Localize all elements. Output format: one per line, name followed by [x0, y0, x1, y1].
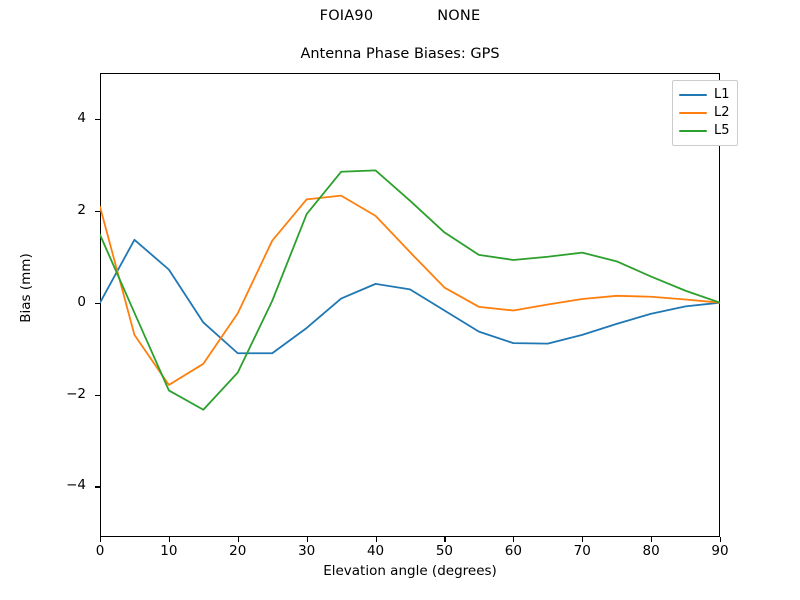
y-tick-mark — [95, 119, 100, 120]
x-tick-label: 20 — [208, 543, 268, 559]
legend-label: L5 — [714, 122, 730, 140]
legend-item-l1[interactable]: L1 — [679, 86, 730, 104]
x-tick-mark — [582, 537, 583, 542]
y-tick-mark — [95, 303, 100, 304]
legend-swatch — [679, 112, 707, 115]
y-tick-mark — [95, 395, 100, 396]
plot-lines — [100, 73, 720, 537]
x-tick-mark — [651, 537, 652, 542]
legend-item-l2[interactable]: L2 — [679, 104, 730, 122]
x-tick-mark — [238, 537, 239, 542]
x-tick-label: 70 — [552, 543, 612, 559]
legend-item-l5[interactable]: L5 — [679, 122, 730, 140]
x-tick-mark — [307, 537, 308, 542]
x-tick-mark — [513, 537, 514, 542]
chart-title: Antenna Phase Biases: GPS — [0, 46, 800, 62]
y-tick-mark — [95, 486, 100, 487]
suptitle-station: FOIA90 — [320, 8, 374, 24]
x-tick-mark — [376, 537, 377, 542]
suptitle-dome: NONE — [437, 8, 480, 24]
figure-canvas: FOIA90NONE Antenna Phase Biases: GPS 420… — [0, 0, 800, 600]
x-tick-mark — [100, 537, 101, 542]
x-tick-label: 0 — [70, 543, 130, 559]
x-tick-label: 50 — [414, 543, 474, 559]
legend-swatch — [679, 130, 707, 133]
x-tick-label: 60 — [483, 543, 543, 559]
y-tick-label: 2 — [40, 202, 86, 218]
x-tick-label: 40 — [346, 543, 406, 559]
x-tick-label: 30 — [277, 543, 337, 559]
x-tick-label: 80 — [621, 543, 681, 559]
x-tick-mark — [444, 537, 445, 542]
y-tick-label: −4 — [40, 477, 86, 493]
y-tick-mark — [95, 211, 100, 212]
y-tick-label: 4 — [40, 110, 86, 126]
y-tick-label: 0 — [40, 294, 86, 310]
y-axis-label: Bias (mm) — [18, 198, 34, 378]
x-tick-label: 10 — [139, 543, 199, 559]
y-tick-label: −2 — [40, 386, 86, 402]
x-tick-mark — [169, 537, 170, 542]
legend-label: L2 — [714, 104, 730, 122]
legend: L1L2L5 — [672, 80, 738, 146]
x-axis-label: Elevation angle (degrees) — [100, 563, 720, 579]
x-tick-label: 90 — [690, 543, 750, 559]
legend-label: L1 — [714, 86, 730, 104]
legend-swatch — [679, 94, 707, 97]
x-tick-mark — [720, 537, 721, 542]
figure-suptitle: FOIA90NONE — [0, 8, 800, 24]
